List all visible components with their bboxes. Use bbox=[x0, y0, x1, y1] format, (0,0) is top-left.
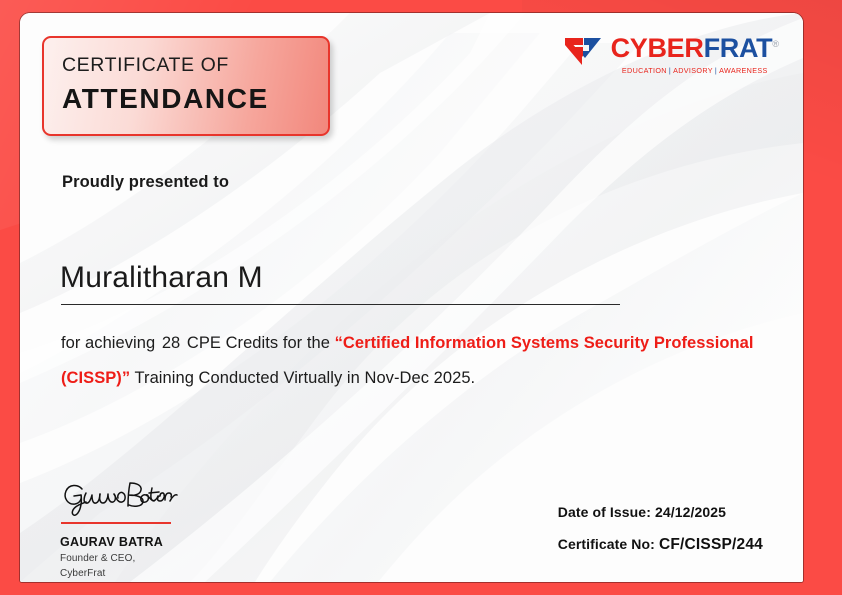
presented-to-label: Proudly presented to bbox=[62, 173, 229, 192]
certificate-frame: CERTIFICATE OF ATTENDANCE CYBERFRAT® EDU… bbox=[0, 0, 842, 595]
tagline-education: EDUCATION bbox=[622, 66, 667, 75]
certificate-title-line2: ATTENDANCE bbox=[62, 80, 328, 118]
achievement-credits-number: 28 bbox=[162, 334, 180, 352]
issue-details: Date of Issue: 24/12/2025 Certificate No… bbox=[558, 504, 763, 554]
achievement-close-quote: ” bbox=[122, 369, 130, 387]
certificate-page: CERTIFICATE OF ATTENDANCE CYBERFRAT® EDU… bbox=[20, 13, 803, 582]
logo-word-frat: FRAT bbox=[704, 33, 773, 63]
signatory-organization: CyberFrat bbox=[60, 566, 250, 581]
signatory-name: GAURAV BATRA bbox=[60, 533, 250, 551]
logo-word-cyber: CYBER bbox=[611, 33, 704, 63]
tagline-separator-1: | bbox=[669, 66, 671, 75]
tagline-awareness: AWARENESS bbox=[719, 66, 768, 75]
achievement-suffix: Training Conducted Virtually in Nov-Dec … bbox=[135, 369, 476, 387]
recipient-name-underline bbox=[61, 304, 620, 305]
signature-underline bbox=[61, 522, 171, 524]
achievement-statement: for achieving 28 CPE Credits for the “Ce… bbox=[61, 326, 761, 396]
issue-date-value: 24/12/2025 bbox=[655, 504, 726, 520]
tagline-separator-2: | bbox=[715, 66, 717, 75]
certificate-number-label: Certificate No: bbox=[558, 536, 655, 552]
certificate-title-line1: CERTIFICATE OF bbox=[62, 54, 328, 77]
registered-trademark-icon: ® bbox=[772, 39, 779, 49]
cyberfrat-logo: CYBERFRAT® EDUCATION|ADVISORY|AWARENESS bbox=[564, 35, 779, 75]
signatory-role: Founder & CEO, bbox=[60, 551, 250, 566]
logo-tagline: EDUCATION|ADVISORY|AWARENESS bbox=[611, 66, 779, 75]
issue-date-label: Date of Issue: bbox=[558, 504, 651, 520]
signature-block: GAURAV BATRA Founder & CEO, CyberFrat bbox=[60, 479, 250, 581]
handwritten-signature-icon bbox=[60, 479, 178, 519]
certificate-number-row: Certificate No: CF/CISSP/244 bbox=[558, 536, 763, 554]
issue-date-row: Date of Issue: 24/12/2025 bbox=[558, 504, 763, 520]
certificate-number-value: CF/CISSP/244 bbox=[659, 536, 763, 553]
achievement-prefix: for achieving bbox=[61, 334, 155, 352]
achievement-open-quote: “ bbox=[335, 334, 343, 352]
tagline-advisory: ADVISORY bbox=[673, 66, 713, 75]
cyberfrat-logomark-icon bbox=[564, 37, 602, 70]
recipient-name: Muralitharan M bbox=[60, 261, 263, 295]
cyberfrat-wordmark: CYBERFRAT® bbox=[611, 35, 779, 62]
certificate-title-badge: CERTIFICATE OF ATTENDANCE bbox=[42, 36, 330, 136]
achievement-credits-unit: CPE Credits for the bbox=[187, 334, 330, 352]
